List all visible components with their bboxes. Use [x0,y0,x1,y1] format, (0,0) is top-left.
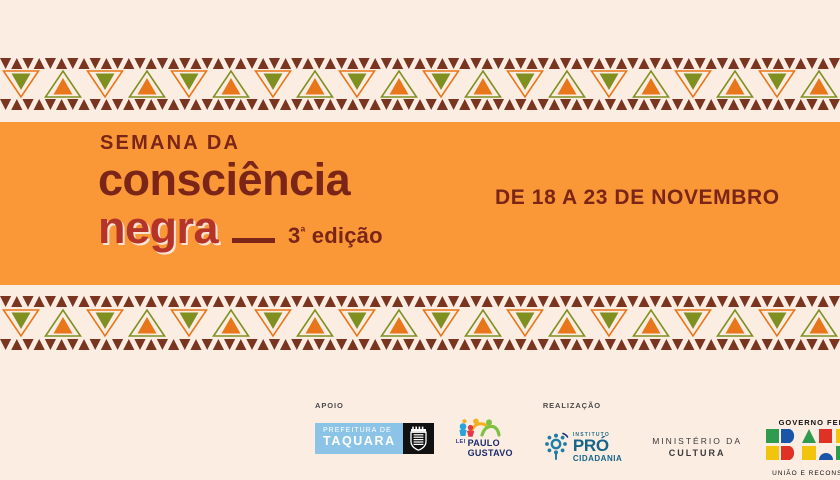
big-triangle-row-icon [0,69,840,99]
coat-of-arms-icon [407,426,430,451]
headline-kicker: SEMANA DA [100,133,383,153]
pro-cidadania-wordmark: INSTITUTO PRÓ CIDADANIA [573,432,622,463]
logo-lei-paulo-gustavo: LEI PAULO GUSTAVO [456,418,513,458]
paulo-gustavo-line2: GUSTAVO [468,448,513,458]
mini-triangle-row-icon [0,58,840,69]
ministerio-line2: CULTURA [652,448,742,460]
paulo-gustavo-line1: PAULO [468,438,513,448]
logo-ministerio-da-cultura: MINISTÉRIO DA CULTURA [652,435,742,459]
mini-triangle-row-icon [0,339,840,350]
pro-cidadania-emblem-icon [543,432,571,462]
logo-governo-federal: GOVERNO FEDERAL UNIÃO E RECONSTRUÇÃO [764,418,840,477]
pro-cidadania-pro: PRÓ [573,438,622,454]
support-label: APOIO [315,401,344,410]
footer-logo-bar: APOIO PREFEITURA DE TAQUARA [0,388,840,480]
headline-block: SEMANA DA consciência negra 3ª edição [98,133,383,252]
paulo-gustavo-figures-icon [456,418,510,437]
mini-triangle-row-icon [0,99,840,110]
pro-cidadania-cidadania: CIDADANIA [573,454,622,463]
edition-label: 3ª edição [288,223,383,249]
brasil-brandmark-icon [764,427,840,463]
paulo-gustavo-prefix: LEI [456,439,466,445]
pattern-strip-top [0,58,840,110]
ministerio-line1: MINISTÉRIO DA [652,435,742,448]
logo-prefeitura-taquara: PREFEITURA DE TAQUARA [315,423,434,454]
realization-label: REALIZAÇÃO [543,401,601,410]
realization-logo-group: REALIZAÇÃO INSTITUTO PRÓ CIDADANIA [543,418,840,477]
governo-bottom-label: UNIÃO E RECONSTRUÇÃO [764,470,840,477]
support-logo-group: APOIO PREFEITURA DE TAQUARA [315,418,513,458]
edition-number: 3 [288,223,300,248]
taquara-line2: TAQUARA [323,435,396,449]
headline-line-negra-row: negra 3ª edição [98,205,383,252]
event-dates: DE 18 A 23 DE NOVEMBRO [495,186,780,210]
logo-instituto-pro-cidadania: INSTITUTO PRÓ CIDADANIA [543,432,622,463]
paulo-gustavo-wordmark: LEI PAULO GUSTAVO [456,438,513,458]
paulo-gustavo-names: PAULO GUSTAVO [468,438,513,458]
big-triangle-row-icon [0,308,840,338]
taquara-crest-icon [403,423,434,454]
headline-line-negra: negra [98,205,218,251]
headline-line-consciencia: consciência [98,157,383,203]
divider-dash-icon [232,238,275,243]
governo-top-label: GOVERNO FEDERAL [764,418,840,427]
mini-triangle-row-icon [0,296,840,307]
taquara-wordmark: PREFEITURA DE TAQUARA [315,423,403,454]
pattern-strip-bottom [0,296,840,350]
edition-word: edição [306,223,383,248]
